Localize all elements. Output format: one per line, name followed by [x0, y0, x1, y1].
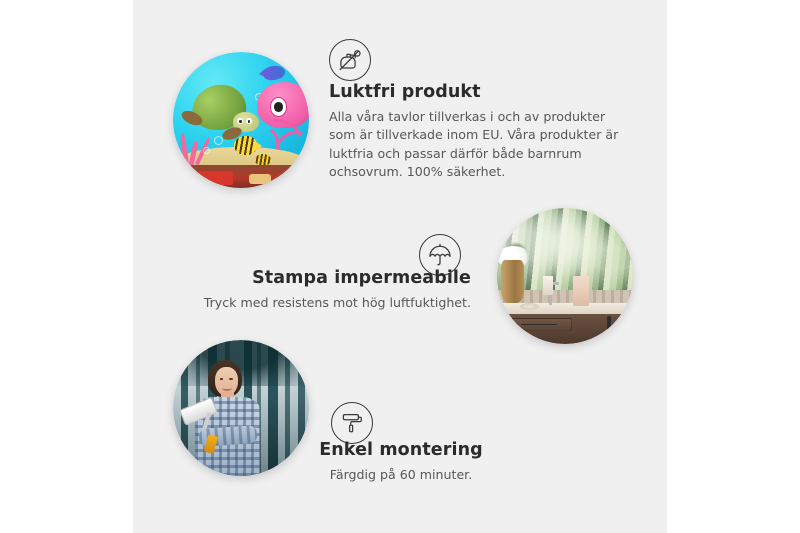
feature-title-odourless: Luktfri produkt: [329, 82, 625, 103]
feature-description-odourless: Alla våra tavlor tillverkas i och av pro…: [329, 108, 625, 182]
feature-description-easy-mounting: Färgdig på 60 minuter.: [253, 466, 549, 484]
feature-text-easy-mounting: Enkel montering Färgdig på 60 minuter.: [253, 440, 549, 484]
feature-text-waterproof: Stampa impermeabile Tryck med resistens …: [168, 268, 471, 312]
feature-title-easy-mounting: Enkel montering: [253, 440, 549, 461]
paint-roller-icon: [331, 402, 373, 444]
no-spray-bottle-icon: [329, 39, 371, 81]
bathroom-botanical-wallpaper-photo: [497, 208, 633, 344]
product-benefits-banner: Luktfri produkt Alla våra tavlor tillver…: [0, 0, 800, 533]
feature-text-odourless: Luktfri produkt Alla våra tavlor tillver…: [329, 82, 625, 182]
feature-title-waterproof: Stampa impermeabile: [168, 268, 471, 289]
underwater-kids-scene-photo: [173, 52, 309, 188]
feature-description-waterproof: Tryck med resistens mot hög luftfuktighe…: [168, 294, 471, 312]
